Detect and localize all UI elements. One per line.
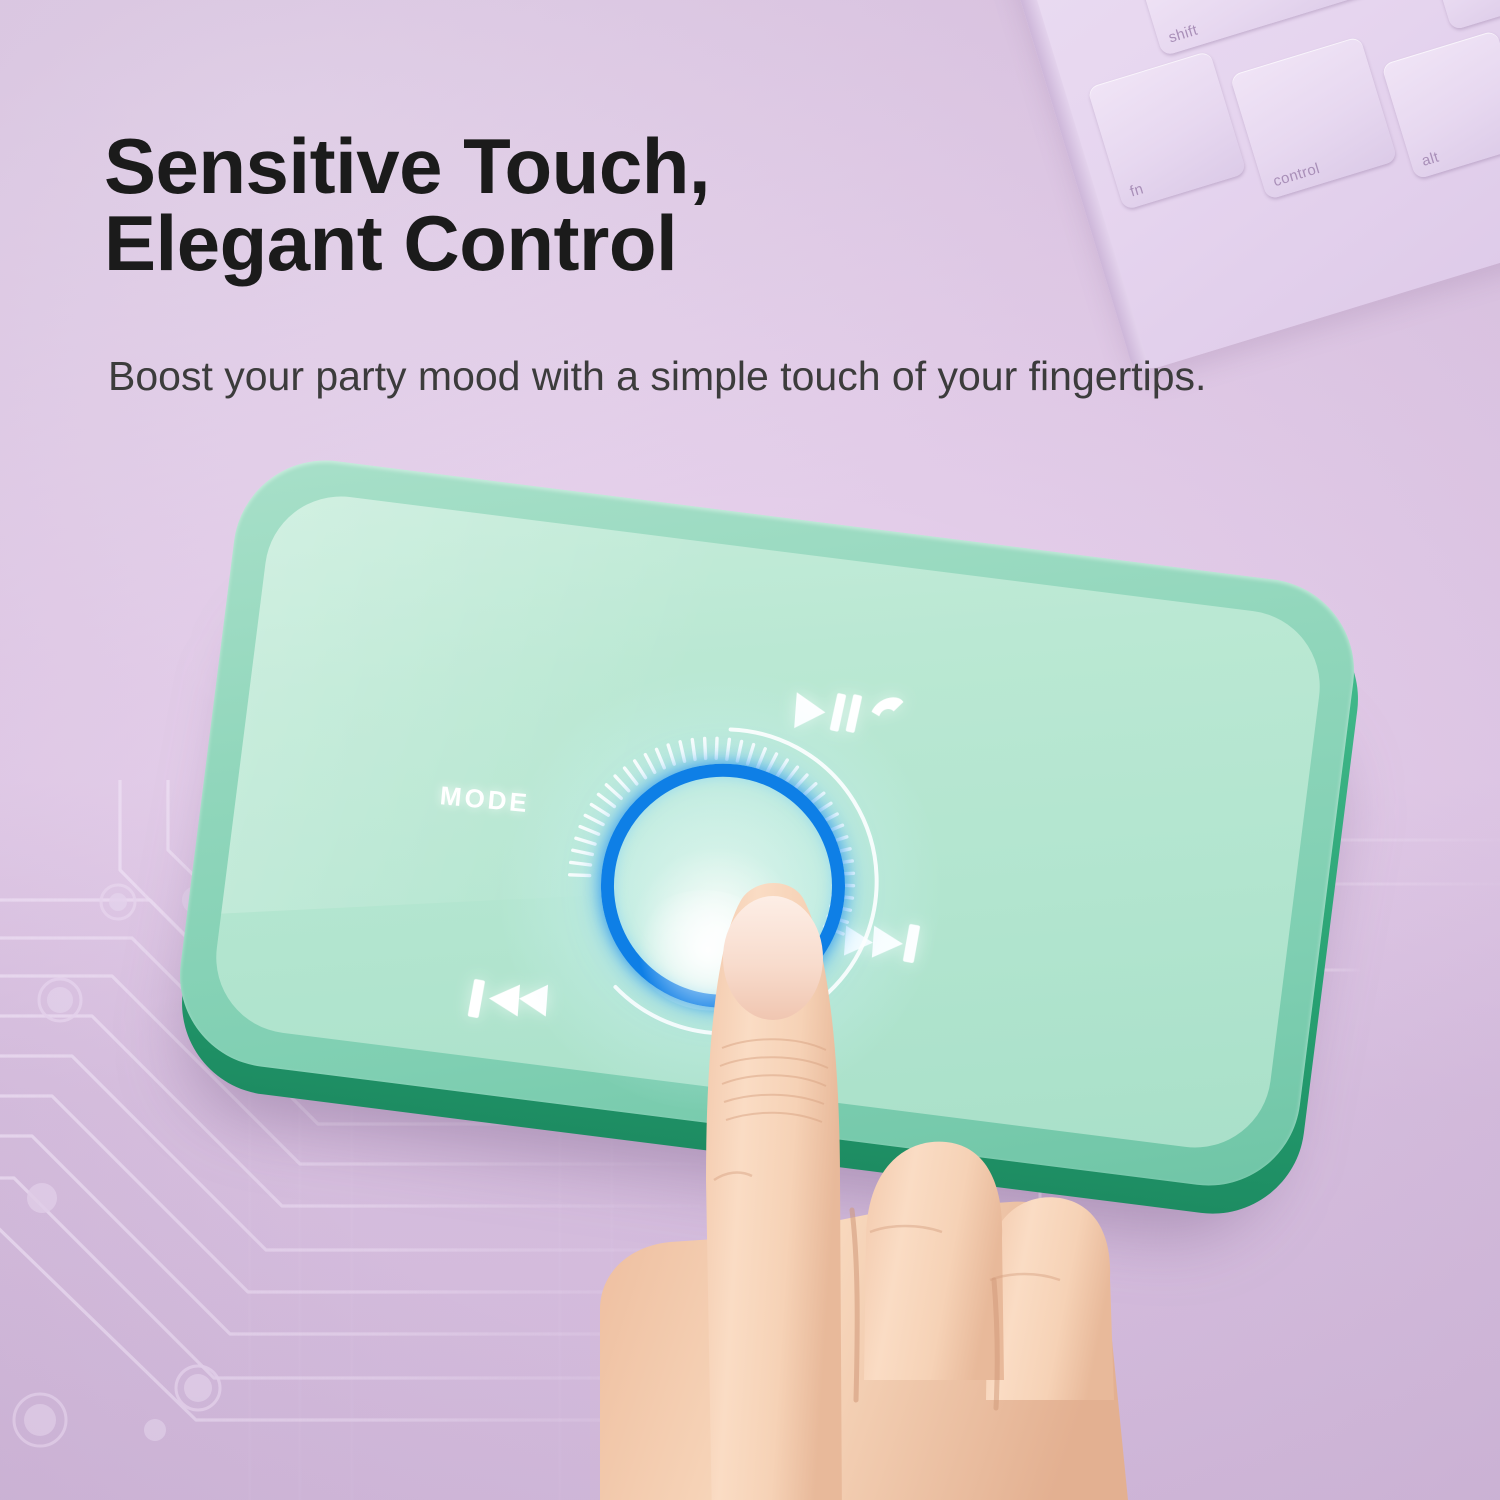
subtitle: Boost your party mood with a simple touc… — [108, 352, 1448, 401]
key-alt-label: alt — [1420, 149, 1441, 170]
hand-pressing-dial — [590, 880, 1150, 1500]
key-shift-label: shift — [1167, 22, 1200, 47]
page-title: Sensitive Touch, Elegant Control — [104, 128, 1104, 282]
headline-line-1: Sensitive Touch, — [104, 122, 710, 210]
headline-line-2: Elegant Control — [104, 205, 1104, 282]
key-fn-label: fn — [1128, 180, 1146, 200]
key-control-label: control — [1271, 160, 1322, 190]
product-marketing-image: shift A fn control alt Z MODE — [0, 0, 1500, 1500]
